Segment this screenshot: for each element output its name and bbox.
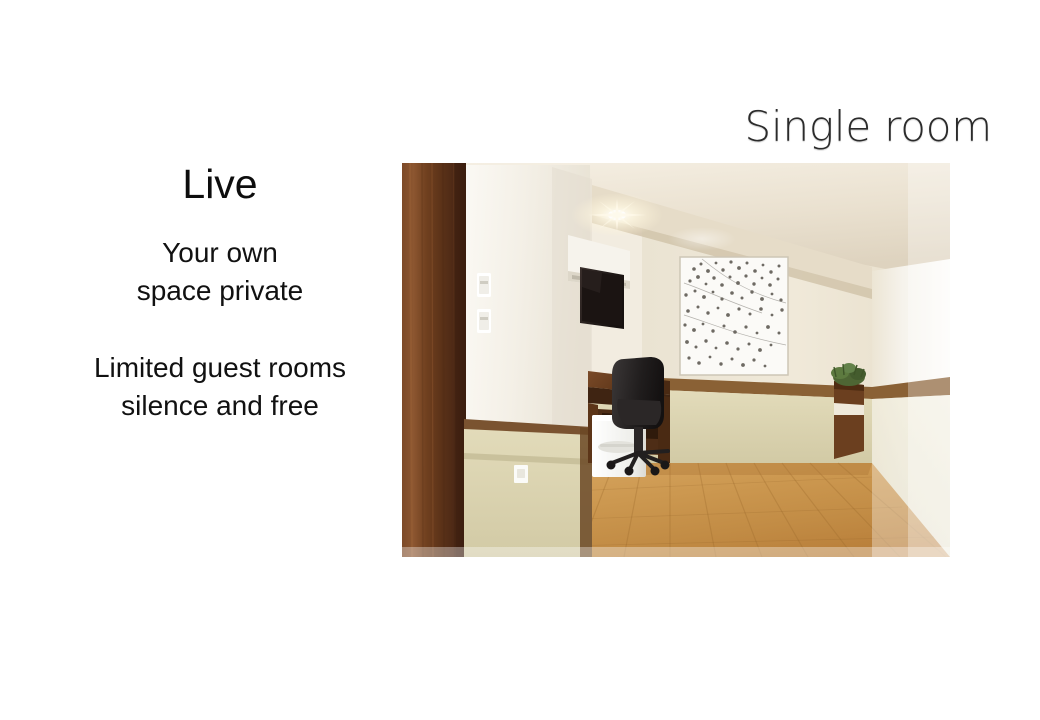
corner-shelf [834,381,864,459]
text-column: Live Your own space private Limited gues… [20,160,420,425]
ceiling-light-reflection [668,227,736,251]
room-photo [402,163,950,557]
light-switch-plate-upper [477,273,491,297]
slide-canvas: Single room Live Your own space private … [0,0,1040,720]
light-switch-plate-lower [477,309,491,333]
body-block-guest-rooms: Limited guest rooms silence and free [20,349,420,425]
body-line-limited-guest-rooms: Limited guest rooms [20,349,420,387]
body-line-silence-and-free: silence and free [20,387,420,425]
chair-column [634,427,643,453]
body-line-space-private: space private [20,272,420,310]
heading-live: Live [20,160,420,208]
wall-mounted-tv [580,267,624,329]
photo-right-fade [908,163,950,557]
photo-bottom-fade [402,547,950,557]
body-line-your-own: Your own [20,234,420,272]
page-title: Single room [742,104,992,150]
power-outlet-face [517,469,525,478]
wall-artwork [680,257,788,375]
left-wainscot-panel [464,421,592,557]
body-block-private-space: Your own space private [20,234,420,310]
